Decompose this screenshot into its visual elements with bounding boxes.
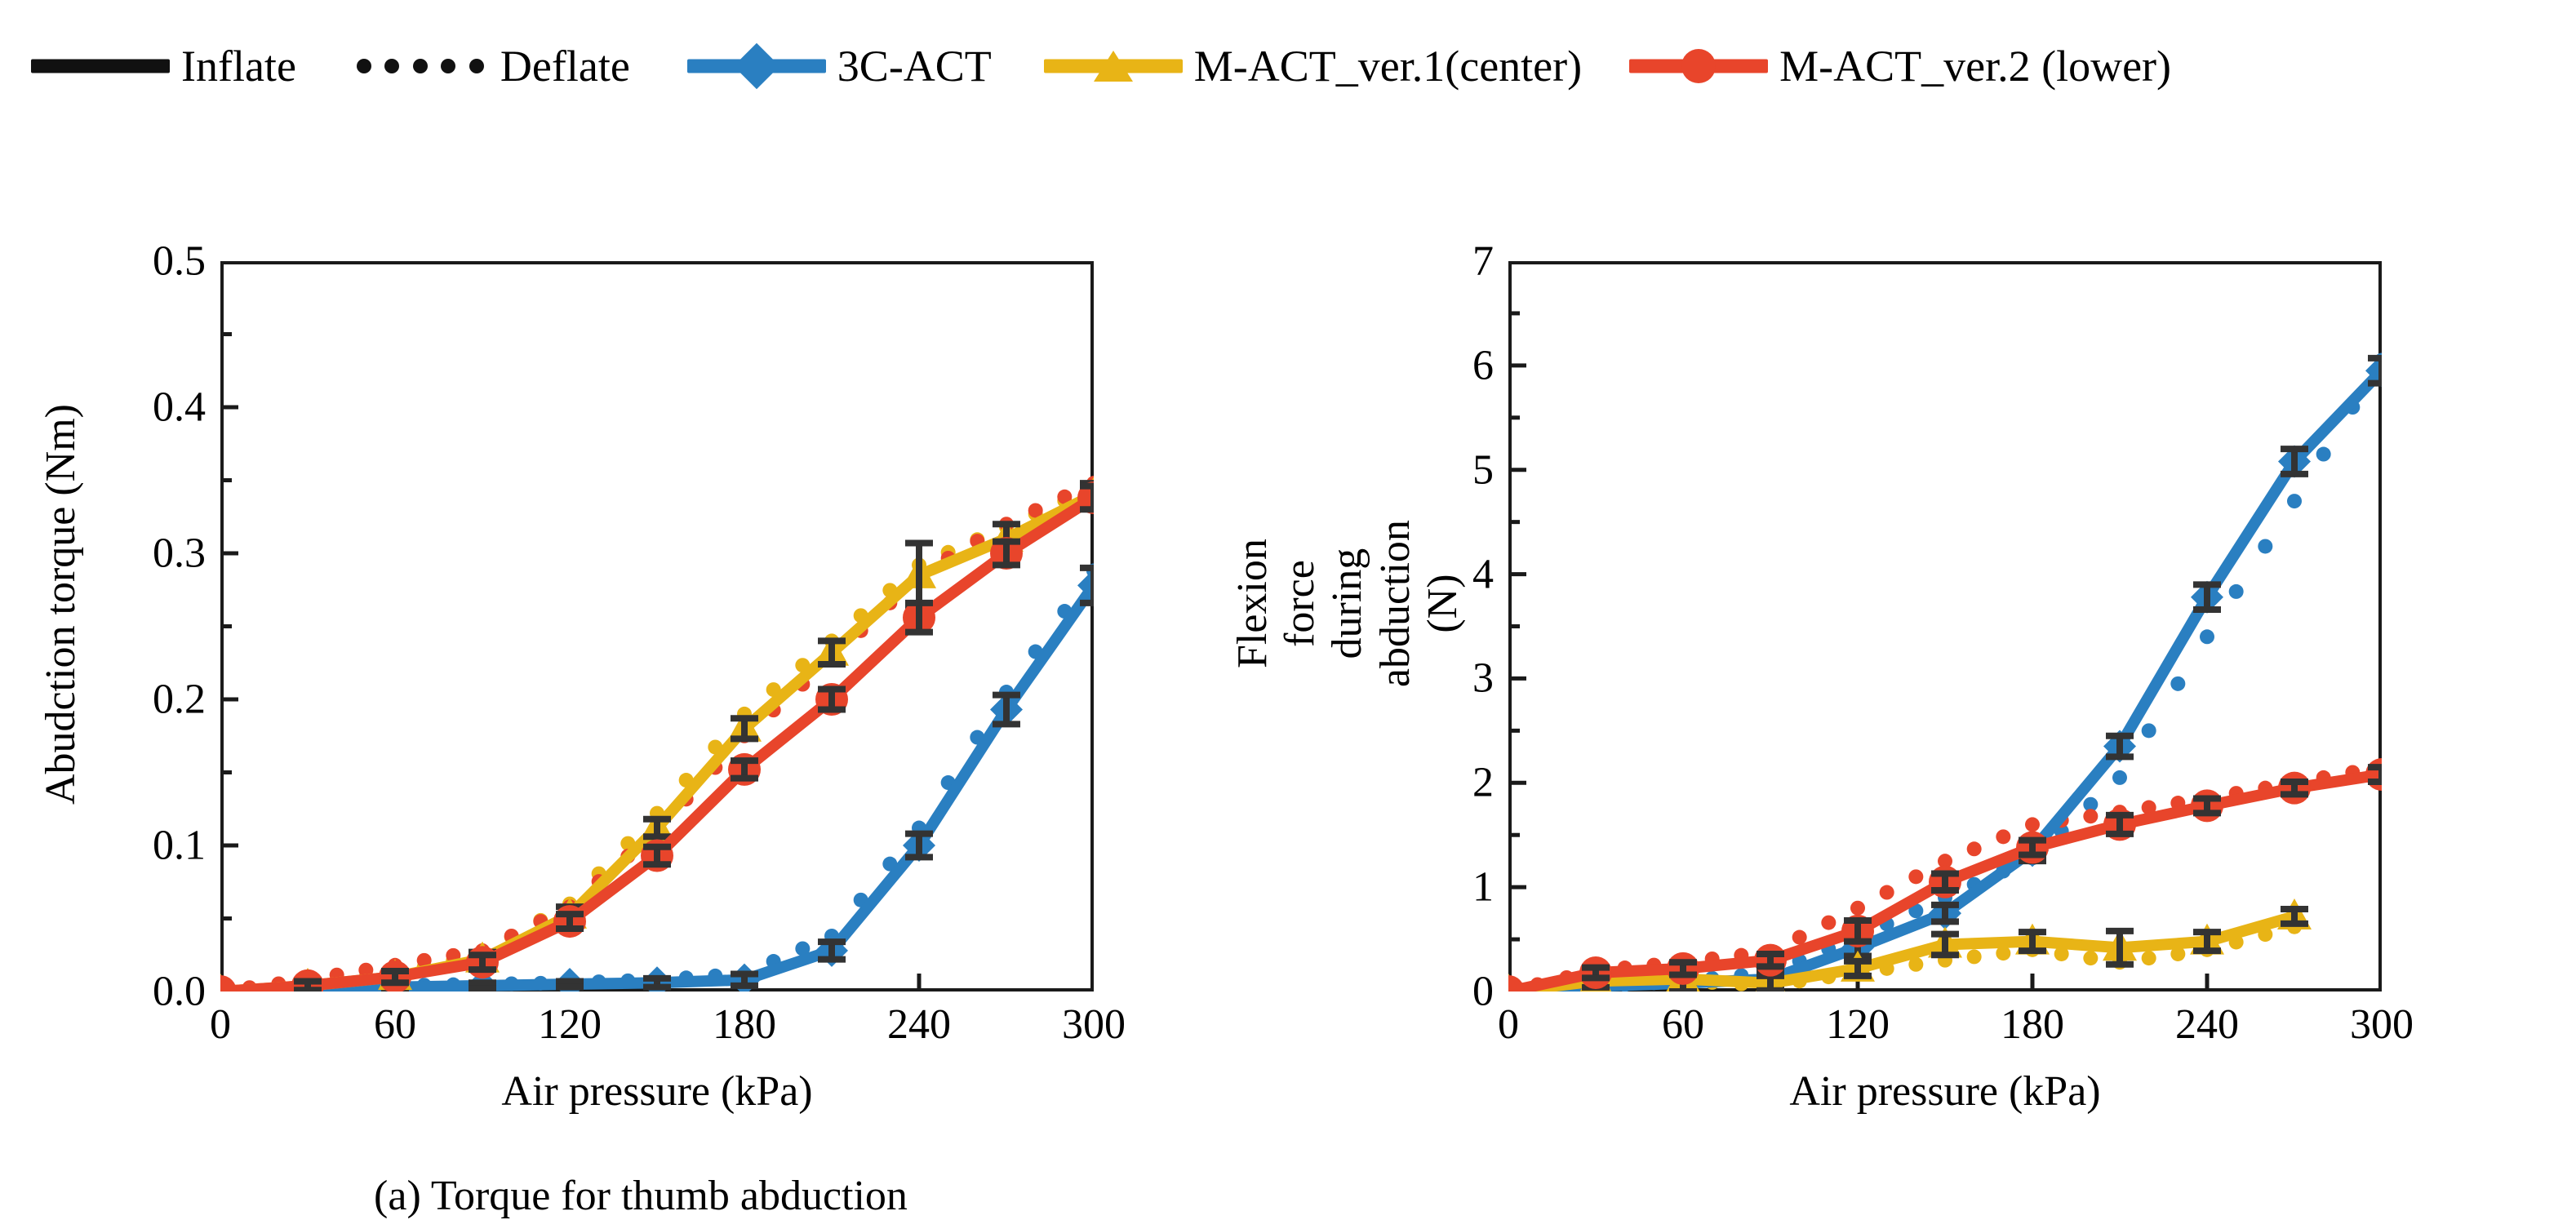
legend-item-m-act-ver2: M-ACT_ver.2 (lower) xyxy=(1629,34,2171,98)
panel-b-flexion-force: Flexion force during abduction (N) 01234… xyxy=(1288,114,2576,1147)
x-tick-label: 0 xyxy=(210,1000,231,1049)
legend-label-3c-act: 3C-ACT xyxy=(837,44,992,88)
panel-b-y-tick-labels: 01234567 xyxy=(1288,261,1494,992)
legend-key-circle-marker-icon xyxy=(1629,50,1768,82)
y-tick-label: 2 xyxy=(1472,759,1494,807)
y-tick-label: 7 xyxy=(1472,237,1494,286)
y-tick-label: 0.5 xyxy=(153,237,206,286)
y-tick-label: 0.0 xyxy=(153,968,206,1016)
x-tick-label: 0 xyxy=(1498,1000,1519,1049)
legend-key-solid-line-icon xyxy=(31,50,170,82)
y-tick-label: 0 xyxy=(1472,968,1494,1016)
panel-a-torque: Abudction torque (Nm) 0.00.10.20.30.40.5… xyxy=(0,114,1281,1147)
legend-label-m-act-ver1: M-ACT_ver.1(center) xyxy=(1194,44,1582,88)
y-tick-label: 3 xyxy=(1472,654,1494,703)
panel-a-caption: (a) Torque for thumb abduction xyxy=(0,1172,1281,1220)
legend-key-dotted-line-icon xyxy=(350,50,489,82)
figure-root: Inflate Deflate 3C-ACT M-ACT_ver.1(cente… xyxy=(0,0,2576,1147)
x-tick-label: 300 xyxy=(2350,1000,2414,1049)
legend-key-diamond-marker-icon xyxy=(687,50,826,82)
x-tick-label: 300 xyxy=(1062,1000,1126,1049)
x-tick-label: 60 xyxy=(374,1000,416,1049)
legend-item-3c-act: 3C-ACT xyxy=(687,34,992,98)
legend-label-inflate: Inflate xyxy=(181,44,296,88)
panel-a-plot-area xyxy=(220,261,1094,992)
y-tick-label: 6 xyxy=(1472,341,1494,389)
x-tick-label: 240 xyxy=(887,1000,951,1049)
x-tick-label: 60 xyxy=(1662,1000,1704,1049)
panel-b-x-tick-labels: 060120180240300 xyxy=(1508,1000,2382,1058)
legend-item-deflate: Deflate xyxy=(350,34,630,98)
panel-b-x-axis-label: Air pressure (kPa) xyxy=(1508,1067,2382,1116)
panel-b-plot-area xyxy=(1508,261,2382,992)
x-tick-label: 180 xyxy=(713,1000,776,1049)
figure-legend: Inflate Deflate 3C-ACT M-ACT_ver.1(cente… xyxy=(0,34,2576,98)
x-tick-label: 240 xyxy=(2175,1000,2239,1049)
y-tick-label: 0.4 xyxy=(153,384,206,432)
panel-a-x-tick-labels: 060120180240300 xyxy=(220,1000,1094,1058)
legend-item-inflate: Inflate xyxy=(31,34,296,98)
y-tick-label: 0.1 xyxy=(153,822,206,870)
panel-a-x-axis-label: Air pressure (kPa) xyxy=(220,1067,1094,1116)
y-tick-label: 5 xyxy=(1472,446,1494,494)
y-tick-label: 0.3 xyxy=(153,530,206,578)
x-tick-label: 180 xyxy=(2001,1000,2064,1049)
y-tick-label: 1 xyxy=(1472,863,1494,912)
legend-label-deflate: Deflate xyxy=(500,44,630,88)
legend-label-m-act-ver2: M-ACT_ver.2 (lower) xyxy=(1779,44,2171,88)
legend-item-m-act-ver1: M-ACT_ver.1(center) xyxy=(1044,34,1582,98)
y-tick-label: 4 xyxy=(1472,550,1494,598)
legend-key-triangle-marker-icon xyxy=(1044,50,1183,82)
panel-a-y-tick-labels: 0.00.10.20.30.40.5 xyxy=(0,261,206,992)
y-tick-label: 0.2 xyxy=(153,676,206,724)
x-tick-label: 120 xyxy=(1826,1000,1890,1049)
x-tick-label: 120 xyxy=(538,1000,602,1049)
